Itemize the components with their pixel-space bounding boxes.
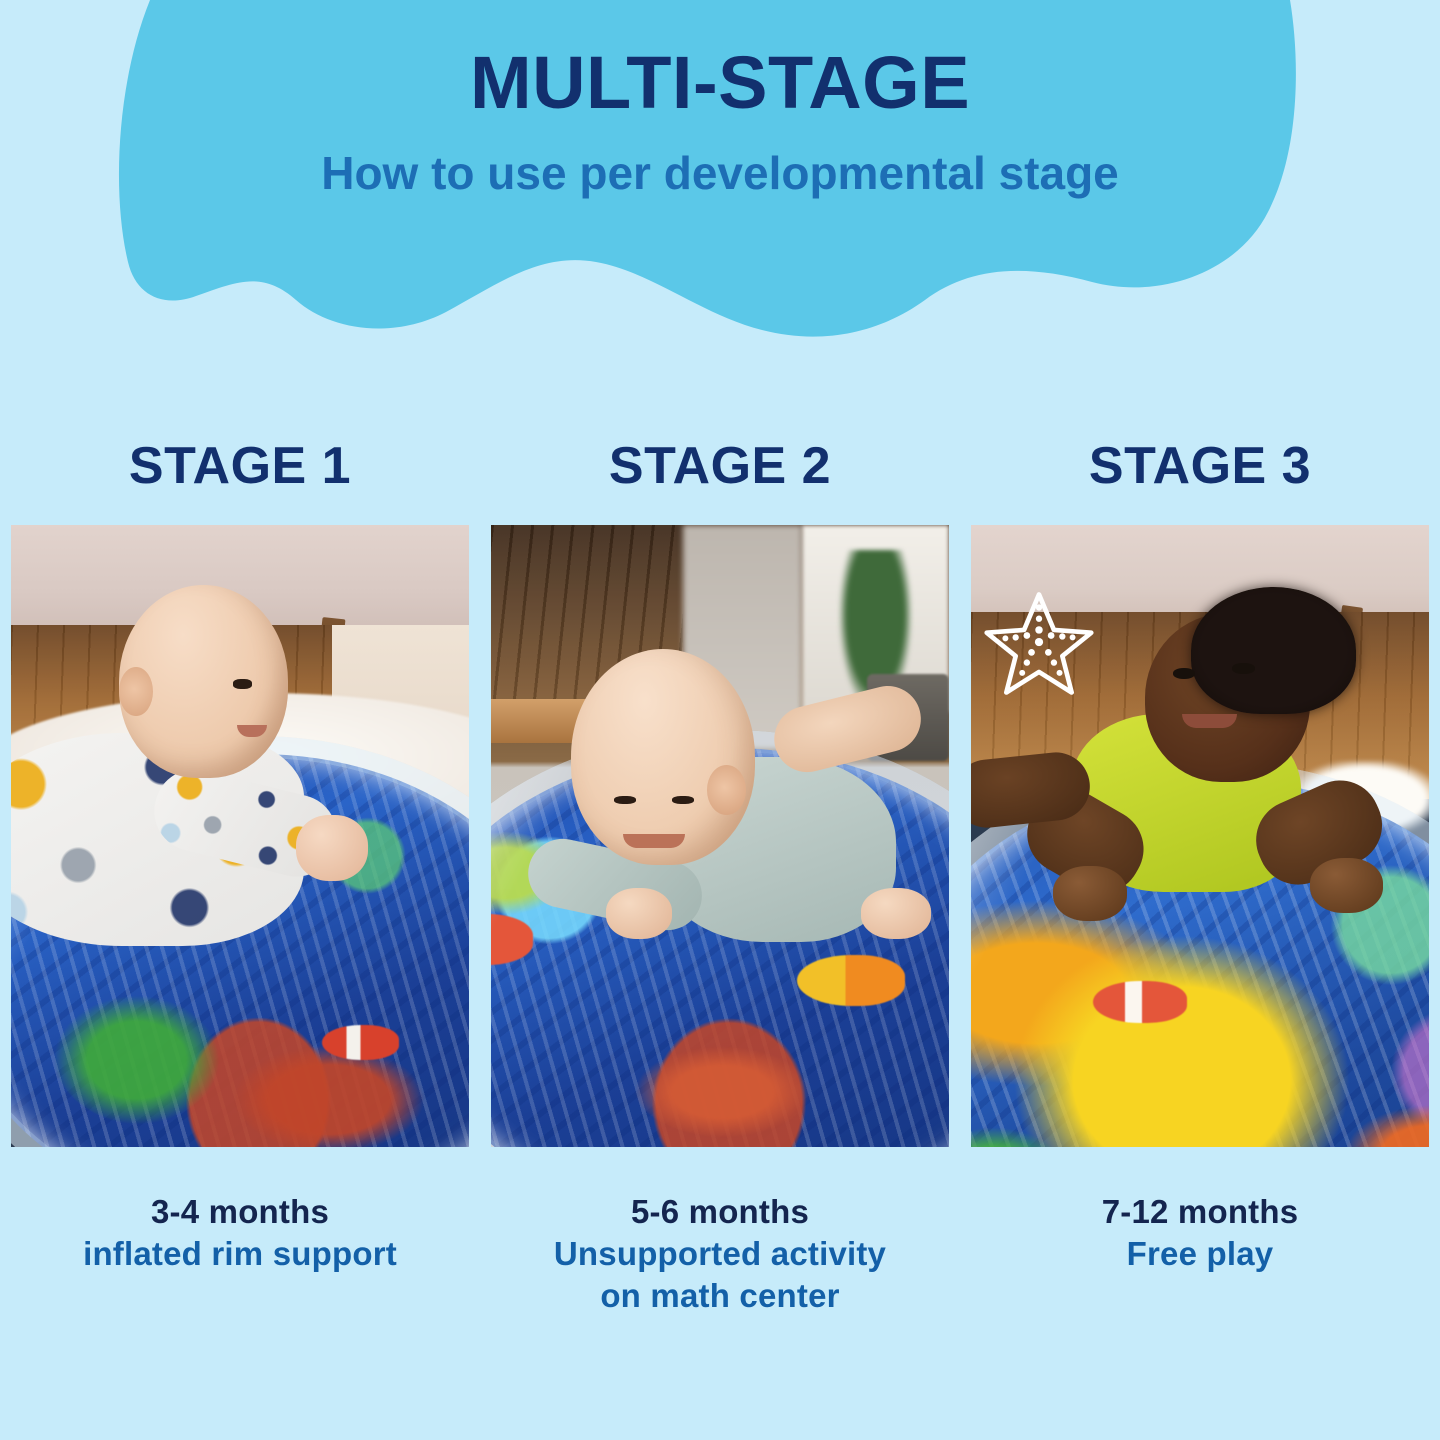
baby-eye-right bbox=[672, 796, 694, 804]
stage-description-2-line2: on math center bbox=[505, 1275, 935, 1317]
stage-heading-2: STAGE 2 bbox=[609, 430, 831, 525]
baby-hand bbox=[296, 815, 368, 881]
stage-caption-2: 5-6 months Unsupported activity on math … bbox=[505, 1191, 935, 1318]
baby-head bbox=[571, 649, 756, 865]
baby-eye-right bbox=[1232, 663, 1255, 674]
baby-mouth bbox=[623, 834, 685, 847]
baby-figure-2 bbox=[500, 649, 940, 1035]
stage-age-2: 5-6 months bbox=[505, 1191, 935, 1233]
baby-mouth bbox=[1182, 714, 1237, 728]
stage-heading-3: STAGE 3 bbox=[1089, 430, 1311, 525]
stage-description-3: Free play bbox=[985, 1233, 1415, 1275]
stage-description-2-line1: Unsupported activity bbox=[505, 1233, 935, 1275]
baby-eye-left bbox=[1173, 668, 1196, 679]
stage-column-3: STAGE 3 bbox=[960, 430, 1440, 1318]
baby-ear bbox=[119, 667, 153, 716]
baby-right-arm bbox=[767, 679, 928, 779]
header-banner bbox=[0, 0, 1440, 360]
baby-eye bbox=[233, 679, 252, 689]
baby-left-hand bbox=[1053, 866, 1126, 921]
starfish-icon bbox=[983, 587, 1095, 699]
baby-figure-1 bbox=[11, 569, 414, 980]
stage-photo-1 bbox=[11, 525, 469, 1147]
stage-age-3: 7-12 months bbox=[985, 1191, 1415, 1233]
stage-photo-2 bbox=[491, 525, 949, 1147]
stage-age-1: 3-4 months bbox=[25, 1191, 455, 1233]
baby-left-hand bbox=[606, 888, 672, 938]
stage-caption-3: 7-12 months Free play bbox=[985, 1191, 1415, 1275]
baby-right-hand bbox=[1310, 858, 1383, 913]
baby-hair bbox=[1191, 587, 1356, 714]
header-blob-shape bbox=[0, 0, 1440, 360]
stage-column-1: STAGE 1 bbox=[0, 430, 480, 1318]
stages-row: STAGE 1 bbox=[0, 430, 1440, 1318]
baby-right-hand bbox=[861, 888, 931, 938]
stage-heading-1: STAGE 1 bbox=[129, 430, 351, 525]
stage-description-1: inflated rim support bbox=[25, 1233, 455, 1275]
stage-caption-1: 3-4 months inflated rim support bbox=[25, 1191, 455, 1275]
baby-eye-left bbox=[614, 796, 636, 804]
stage-photo-3 bbox=[971, 525, 1429, 1147]
stage-column-2: STAGE 2 bbox=[480, 430, 960, 1318]
